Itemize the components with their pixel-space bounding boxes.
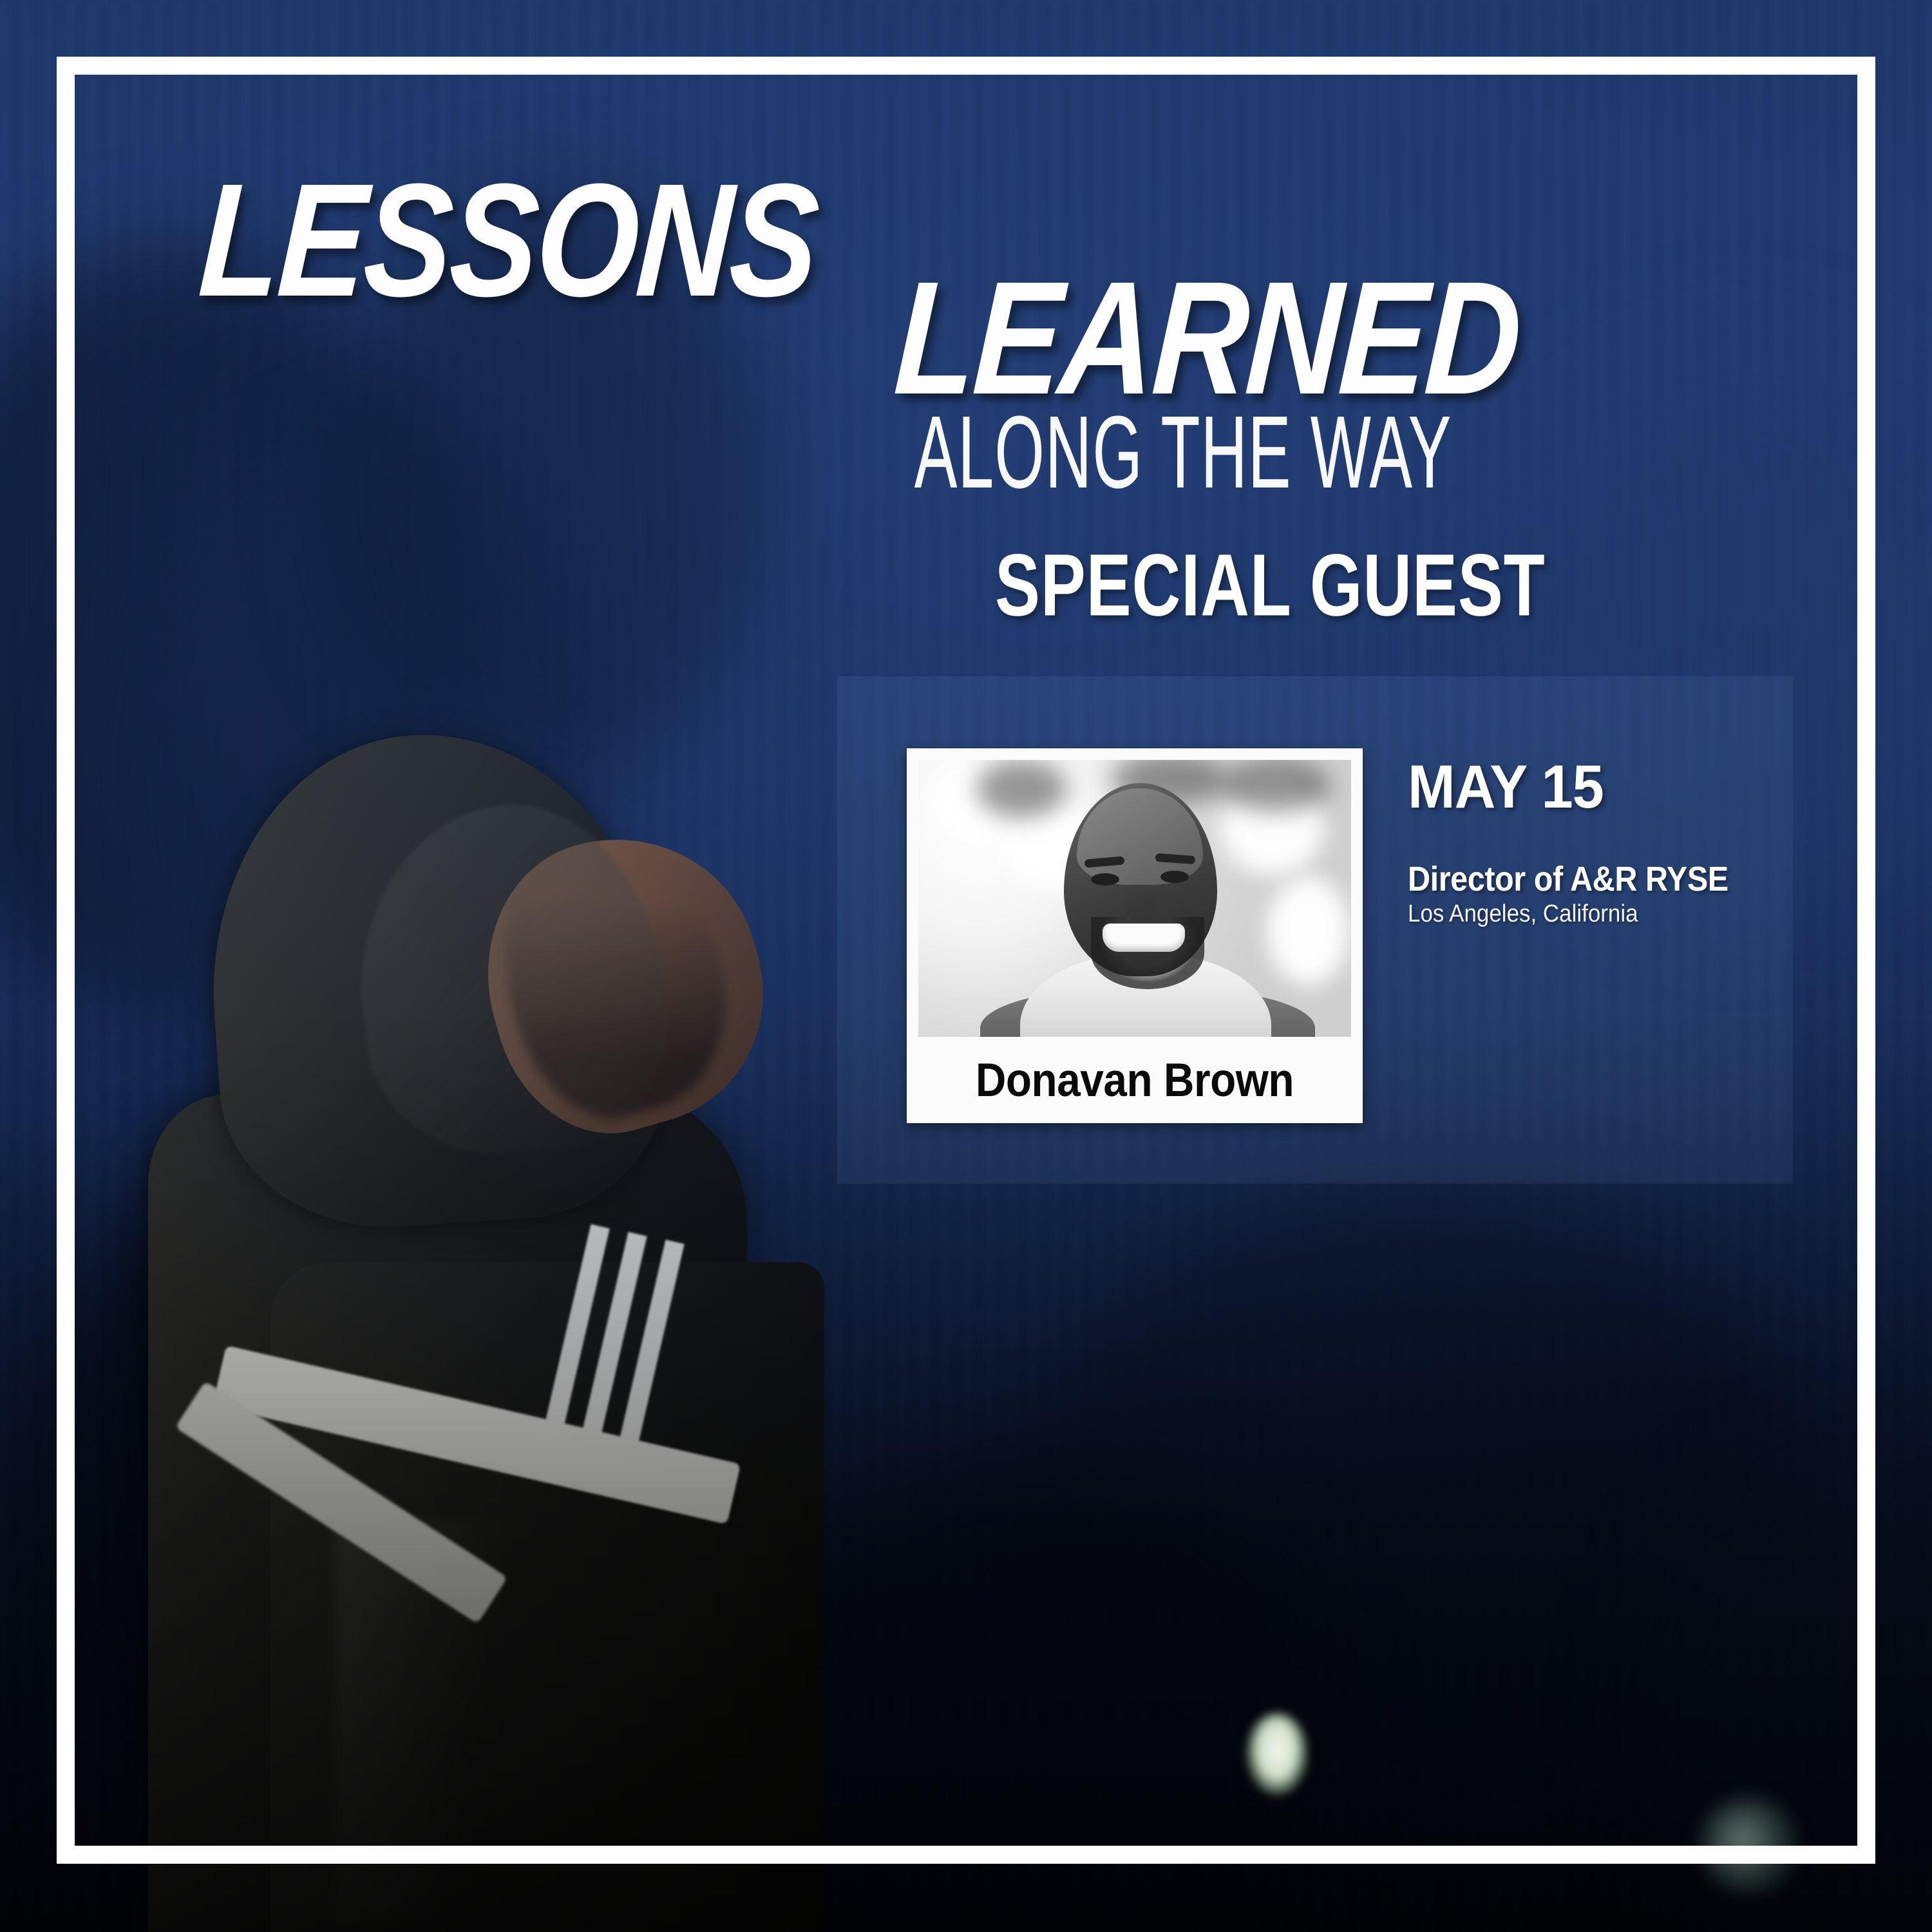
portrait-nose bbox=[1126, 882, 1155, 922]
title-subtitle: ALONG THE WAY bbox=[914, 394, 1452, 511]
guest-photo-card: Donavan Brown bbox=[907, 748, 1363, 1123]
portrait-bokeh bbox=[1266, 876, 1350, 985]
portrait-eye bbox=[1160, 871, 1189, 883]
guest-city: Los Angeles, California bbox=[1408, 900, 1638, 928]
title-line-lessons: LESSONS bbox=[196, 160, 821, 321]
guest-role: Director of A&R RYSE bbox=[1408, 859, 1728, 899]
bokeh-light-icon bbox=[1700, 1797, 1797, 1893]
guest-name: Donavan Brown bbox=[929, 1037, 1340, 1123]
special-guest-label: SPECIAL GUEST bbox=[995, 535, 1546, 636]
bokeh-light-icon bbox=[1246, 1713, 1308, 1795]
portrait-foliage-dark bbox=[1221, 760, 1331, 811]
promo-poster: LESSONS LEARNED ALONG THE WAY SPECIAL GU… bbox=[0, 0, 1932, 1932]
portrait-smile bbox=[1103, 923, 1185, 952]
guest-portrait-photo bbox=[918, 760, 1351, 1037]
portrait-eye bbox=[1091, 873, 1119, 885]
portrait-foliage-dark bbox=[976, 760, 1066, 818]
event-date: MAY 15 bbox=[1408, 752, 1604, 822]
